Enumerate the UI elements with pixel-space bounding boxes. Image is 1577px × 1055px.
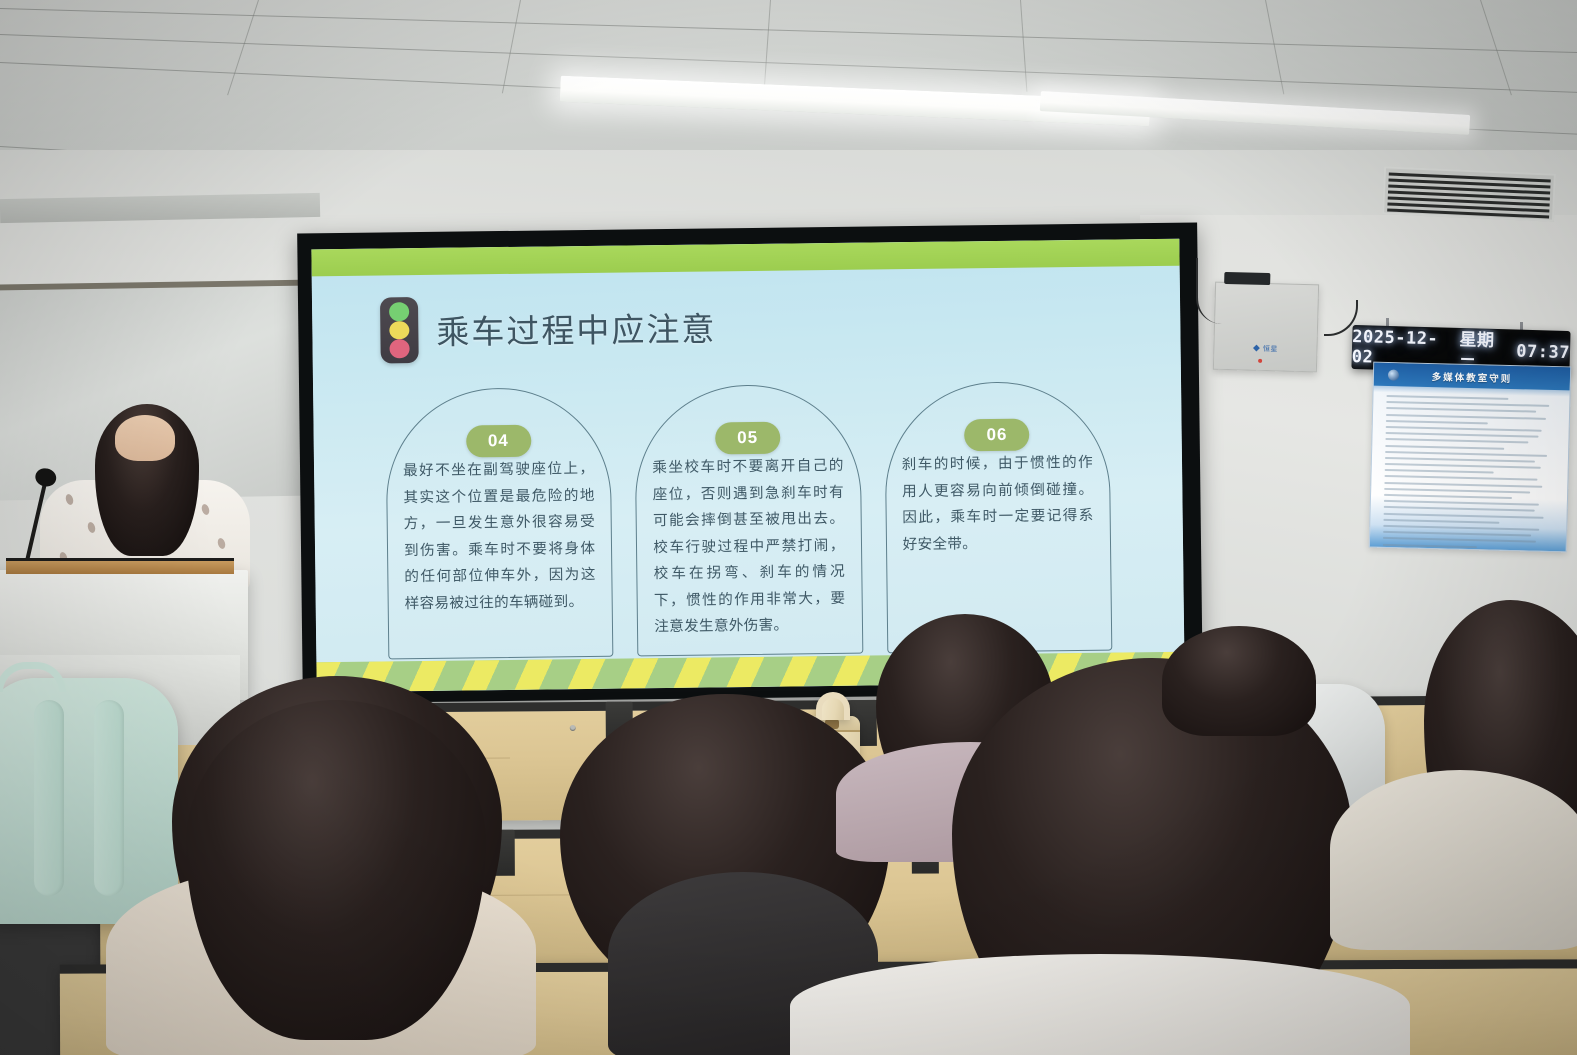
projector-cabinet: ◆ 恒星 xyxy=(1213,282,1319,373)
poster-text-line xyxy=(1384,500,1539,506)
card-number-badge: 05 xyxy=(715,422,780,455)
presentation-slide: 乘车过程中应注意 04 最好不坐在副驾驶座位上，其实这个位置是最危险的地方，一旦… xyxy=(311,239,1184,693)
poster-text-line xyxy=(1384,506,1535,512)
card-body-text: 最好不坐在副驾驶座位上，其实这个位置是最危险的地方，一旦发生意外很容易受到伤害。… xyxy=(403,456,596,618)
poster-text-line xyxy=(1386,426,1542,432)
poster-text-line xyxy=(1385,457,1535,463)
slide-body: 乘车过程中应注意 04 最好不坐在副驾驶座位上，其实这个位置是最危险的地方，一旦… xyxy=(312,266,1185,663)
poster-text-line xyxy=(1383,519,1499,524)
card-number-badge: 04 xyxy=(466,425,531,458)
projection-screen: 乘车过程中应注意 04 最好不坐在副驾驶座位上，其实这个位置是最危险的地方，一旦… xyxy=(297,223,1203,704)
clock-time: 07:37 xyxy=(1516,342,1570,363)
poster-header: 多媒体教室守则 xyxy=(1374,363,1571,391)
student-body xyxy=(790,954,1410,1055)
slide-card: 06 刹车的时候，由于惯性的作用人更容易向前倾倒碰撞。因此，乘车时一定要记得系好… xyxy=(884,381,1113,654)
poster-text-line xyxy=(1386,395,1508,400)
poster-text-line xyxy=(1384,494,1512,499)
poster-text-line xyxy=(1384,475,1537,481)
slide-header: 乘车过程中应注意 xyxy=(342,266,1151,364)
poster-text-line xyxy=(1383,537,1536,543)
classroom-rules-poster: 多媒体教室守则 xyxy=(1369,362,1571,553)
card-body-text: 乘坐校车时不要离开自己的座位，否则遇到急刹车时有可能会摔倒甚至被甩出去。校车行驶… xyxy=(652,453,846,641)
poster-text-line xyxy=(1385,463,1541,469)
poster-text-line xyxy=(1386,407,1536,413)
slide-card: 04 最好不坐在副驾驶座位上，其实这个位置是最危险的地方，一旦发生意外很容易受到… xyxy=(385,387,614,660)
card-number-badge: 06 xyxy=(964,419,1029,452)
backpack xyxy=(0,678,178,924)
poster-text-line xyxy=(1385,444,1504,449)
poster-text-line xyxy=(1385,451,1547,457)
cabinet-mount xyxy=(1224,272,1270,285)
air-vent-icon xyxy=(1382,166,1556,221)
poster-text-line xyxy=(1383,543,1477,547)
poster-text-line xyxy=(1386,432,1539,438)
backpack-strap xyxy=(94,700,124,896)
card-body-text: 刹车的时候，由于惯性的作用人更容易向前倾倒碰撞。因此，乘车时一定要记得系好安全带… xyxy=(902,450,1095,559)
slide-title: 乘车过程中应注意 xyxy=(436,302,717,353)
student-head xyxy=(186,700,486,1040)
classroom-scene: 乘车过程中应注意 04 最好不坐在副驾驶座位上，其实这个位置是最危险的地方，一旦… xyxy=(0,0,1577,1055)
cabinet-logo: ◆ 恒星 xyxy=(1253,344,1278,355)
cabinet-led-icon xyxy=(1258,359,1262,363)
poster-text-line xyxy=(1385,438,1528,443)
backpack-strap xyxy=(34,700,64,896)
poster-text-line xyxy=(1386,420,1488,424)
traffic-light-red-lamp xyxy=(389,339,409,358)
poster-text-line xyxy=(1384,482,1542,488)
bottle-handle xyxy=(816,692,850,720)
poster-text-line xyxy=(1383,525,1539,531)
poster-body xyxy=(1370,386,1570,553)
poster-text-line xyxy=(1386,401,1549,407)
poster-text-line xyxy=(1383,531,1531,537)
traffic-light-icon xyxy=(380,297,419,363)
poster-text-line xyxy=(1384,512,1544,518)
podium-top-edge xyxy=(6,558,234,574)
poster-text-line xyxy=(1385,469,1494,474)
poster-title: 多媒体教室守则 xyxy=(1432,369,1513,385)
slide-card: 05 乘坐校车时不要离开自己的座位，否则遇到急刹车时有可能会摔倒甚至被甩出去。校… xyxy=(634,384,863,657)
traffic-light-yellow-lamp xyxy=(389,321,409,340)
student-head xyxy=(1162,626,1316,736)
poster-text-line xyxy=(1384,488,1530,494)
student-body xyxy=(1330,770,1577,950)
traffic-light-green-lamp xyxy=(389,302,409,321)
screen-surface: 乘车过程中应注意 04 最好不坐在副驾驶座位上，其实这个位置是最危险的地方，一旦… xyxy=(311,239,1184,693)
slide-cards: 04 最好不坐在副驾驶座位上，其实这个位置是最危险的地方，一旦发生意外很容易受到… xyxy=(343,354,1155,660)
poster-text-line xyxy=(1386,413,1546,419)
presenter xyxy=(95,404,199,556)
